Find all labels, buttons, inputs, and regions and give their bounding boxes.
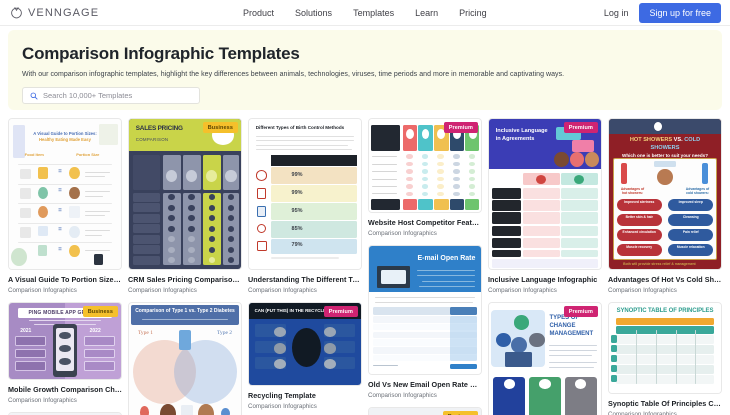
template-category: Comparison Infographics [608, 287, 722, 294]
template-card[interactable]: Premium TYPES OF CHANGE MANAGEMENT [488, 302, 602, 415]
template-title[interactable]: Understanding The Different Types Of... [248, 275, 362, 284]
template-card[interactable]: A Visual Guide to Portion Sizes: Healthy… [8, 118, 122, 294]
nav-item-pricing[interactable]: Pricing [459, 8, 487, 18]
template-card[interactable]: Premium Inclusive Language in Agreements [488, 118, 602, 294]
thumb-value-5: 79% [292, 242, 303, 248]
template-card[interactable]: SYNOPTIC TABLE OF PRINCIPLES [608, 302, 722, 415]
page-title: Comparison Infographic Templates [22, 44, 722, 64]
template-category: Comparison Infographics [608, 411, 722, 415]
login-link[interactable]: Log in [604, 8, 629, 18]
art-portion-sizes: A Visual Guide to Portion Sizes: Healthy… [9, 119, 121, 269]
site-header: VENNGAGE Product Solutions Templates Lea… [0, 0, 730, 26]
venngage-logo-icon [10, 6, 23, 19]
thumb-hot-label: Advantages of hot showers: [618, 187, 647, 195]
template-card[interactable]: Premium CAN (PUT THIS) IN THE RECYCLING … [248, 302, 362, 410]
template-grid: A Visual Guide to Portion Sizes: Healthy… [0, 110, 730, 415]
art-change-management: TYPES OF CHANGE MANAGEMENT [489, 303, 601, 415]
template-card[interactable]: E-mail Open Rate [368, 245, 482, 399]
template-thumbnail[interactable]: Comparison of Type 1 vs. Type 2 Diabetes… [128, 302, 242, 415]
thumb-title: SALES PRICING [136, 125, 183, 132]
thumb-title-hot: HOT SHOWERS [630, 137, 672, 143]
thumb-title-line1: Inclusive Language [496, 128, 548, 134]
template-category: Comparison Infographics [368, 230, 482, 237]
signup-button[interactable]: Sign up for free [639, 3, 721, 23]
thumb-title-line2: in Agreements [496, 136, 535, 142]
thumb-subtitle: COMPARISON [136, 137, 169, 142]
template-card[interactable]: Business PING MOBILE APP GROWTH 2021 202… [8, 302, 122, 404]
thumb-hot-item-2: Better skin & hair [617, 215, 662, 219]
art-diabetes-venn: Comparison of Type 1 vs. Type 2 Diabetes… [129, 303, 241, 415]
template-title[interactable]: Recycling Template [248, 391, 362, 400]
badge-business: Business [83, 306, 118, 317]
thumb-cold-item-2: Cleansing [668, 215, 713, 219]
grid-column-1: A Visual Guide to Portion Sizes: Healthy… [8, 118, 122, 415]
template-category: Comparison Infographics [488, 287, 602, 294]
template-title[interactable]: CRM Sales Pricing Comparison Infogr... [128, 275, 242, 284]
thumb-cold-label: Advantages of cold showers: [683, 187, 712, 195]
grid-column-3: Different Types of Birth Control Methods… [248, 118, 362, 415]
template-card[interactable]: Comparison of Type 1 vs. Type 2 Diabetes… [128, 302, 242, 415]
template-title[interactable]: Inclusive Language Infographic [488, 275, 602, 284]
template-category: Comparison Infographics [8, 287, 122, 294]
thumb-title-line3: MANAGEMENT [549, 331, 593, 337]
nav-item-product[interactable]: Product [243, 8, 274, 18]
template-thumbnail[interactable]: HOT SHOWERS VS. COLD SHOWERS Which one i… [608, 118, 722, 270]
template-title[interactable]: Synoptic Table Of Principles Comparis... [608, 399, 722, 408]
grid-column-5: Premium Inclusive Language in Agreements [488, 118, 602, 415]
art-birth-control: Different Types of Birth Control Methods… [249, 119, 361, 269]
template-category: Comparison Infographics [248, 287, 362, 294]
grid-column-6: HOT SHOWERS VS. COLD SHOWERS Which one i… [608, 118, 722, 415]
main-nav: Product Solutions Templates Learn Pricin… [243, 0, 487, 26]
search-box[interactable]: Search 10,000+ Templates [22, 87, 200, 104]
hero-section: Comparison Infographic Templates With ou… [8, 30, 722, 110]
art-sales-pricing: SALES PRICING COMPARISON [129, 119, 241, 269]
template-thumbnail[interactable]: SYNOPTIC TABLE OF PRINCIPLES [608, 302, 722, 394]
template-title[interactable]: Old Vs New Email Open Rate Comparis... [368, 380, 482, 389]
template-card[interactable]: HOT SHOWERS VS. COLD SHOWERS Which one i… [608, 118, 722, 294]
thumb-footer: Both will provide stress relief & manage… [616, 262, 703, 266]
search-icon [30, 92, 38, 100]
template-card[interactable]: Premium [368, 118, 482, 237]
thumb-title-line2: CHANGE [549, 323, 575, 329]
badge-premium: Premium [564, 122, 598, 133]
template-title[interactable]: Website Host Competitor Features Co... [368, 218, 482, 227]
badge-premium: Premium [564, 306, 598, 317]
template-thumbnail[interactable]: Inclusive Language in Agreements [488, 118, 602, 270]
badge-business: Business [443, 411, 478, 415]
template-thumbnail[interactable]: TYPES OF CHANGE MANAGEMENT [488, 302, 602, 415]
template-thumbnail[interactable]: Different Types of Birth Control Methods… [248, 118, 362, 270]
thumb-title-line1: A Visual Guide to Portion Sizes: [33, 131, 97, 136]
thumb-cold-item-1: Improved sleep [668, 200, 713, 204]
thumb-title: E-mail Open Rate [417, 255, 475, 262]
thumb-title-line2: Healthy Eating Made Easy [39, 137, 91, 142]
grid-column-2: Business SALES PRICING COMPARISON [128, 118, 242, 415]
badge-premium: Premium [444, 122, 478, 133]
thumb-hot-item-1: Improved alertness [617, 200, 662, 204]
thumb-value-4: 85% [292, 226, 303, 232]
logo-text: VENNGAGE [28, 7, 99, 19]
thumb-value-3: 95% [292, 208, 303, 214]
thumb-title-vs: VS. [674, 137, 683, 143]
template-card[interactable]: Different Types of Birth Control Methods… [248, 118, 362, 294]
badge-premium: Premium [324, 306, 358, 317]
search-input[interactable]: Search 10,000+ Templates [43, 91, 132, 100]
template-category: Comparison Infographics [248, 403, 362, 410]
template-card[interactable]: Business SALES PRICING COMPARISON [128, 118, 242, 294]
template-thumbnail[interactable]: E-mail Open Rate [368, 245, 482, 375]
art-hot-cold-showers: HOT SHOWERS VS. COLD SHOWERS Which one i… [609, 119, 721, 269]
header-actions: Log in Sign up for free [604, 0, 721, 26]
badge-business: Business [203, 122, 238, 133]
thumb-col1: Food Item [25, 152, 44, 157]
thumb-title: SYNOPTIC TABLE OF PRINCIPLES [613, 308, 716, 314]
template-category: Comparison Infographics [8, 397, 122, 404]
thumb-hot-item-3: Enhanced circulation [617, 230, 662, 234]
nav-item-templates[interactable]: Templates [353, 8, 394, 18]
template-title[interactable]: Advantages Of Hot Vs Cold Showers C... [608, 275, 722, 284]
template-thumbnail[interactable]: A Visual Guide to Portion Sizes: Healthy… [8, 118, 122, 270]
thumb-value-2: 99% [292, 190, 303, 196]
template-category: Comparison Infographics [368, 392, 482, 399]
art-email-open-rate: E-mail Open Rate [369, 246, 481, 374]
thumb-year-1: 2021 [20, 328, 31, 334]
thumb-hot-item-4: Muscle recovery [617, 245, 662, 249]
thumb-title: Comparison of Type 1 vs. Type 2 Diabetes [133, 308, 236, 314]
thumb-year-2: 2022 [90, 328, 101, 334]
thumb-cold-item-4: Muscle relaxation [668, 245, 713, 249]
thumb-value-1: 99% [292, 172, 303, 178]
logo[interactable]: VENNGAGE [10, 6, 99, 19]
art-synoptic-table: SYNOPTIC TABLE OF PRINCIPLES [609, 303, 721, 393]
thumb-subtitle: Which one is better to suit your needs? [622, 153, 708, 158]
grid-column-4: Premium [368, 118, 482, 415]
nav-item-learn[interactable]: Learn [415, 8, 438, 18]
page-subtitle: With our comparison infographic template… [22, 71, 722, 78]
thumb-title: Different Types of Birth Control Methods [256, 125, 344, 130]
template-card[interactable]: Business [368, 407, 482, 415]
thumb-col2: Portion Size [76, 152, 99, 157]
template-category: Comparison Infographics [128, 287, 242, 294]
thumb-left-label: Type 1 [138, 330, 153, 336]
art-inclusive-language: Inclusive Language in Agreements [489, 119, 601, 269]
thumb-cold-item-3: Pain relief [668, 230, 713, 234]
thumb-right-label: Type 2 [217, 330, 232, 336]
nav-item-solutions[interactable]: Solutions [295, 8, 332, 18]
template-thumbnail[interactable]: SALES PRICING COMPARISON [128, 118, 242, 270]
template-title[interactable]: A Visual Guide To Portion Sizes: Healt..… [8, 275, 122, 284]
template-title[interactable]: Mobile Growth Comparison Chart [8, 385, 122, 394]
